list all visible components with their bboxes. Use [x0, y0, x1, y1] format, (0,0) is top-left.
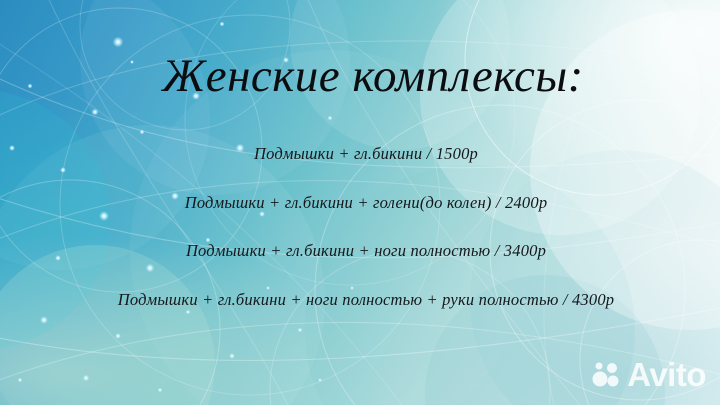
avito-wordmark: Avito: [627, 358, 706, 391]
avito-watermark: Avito: [592, 358, 706, 391]
list-item: Подмышки + гл.бикини + голени(до колен) …: [12, 195, 720, 212]
price-list-slide: Женские комплексы: Подмышки + гл.бикини …: [0, 0, 720, 405]
page-title: Женские комплексы:: [0, 52, 720, 101]
avito-dots-icon: [592, 362, 622, 388]
list-item: Подмышки + гл.бикини + ноги полностью / …: [12, 243, 720, 260]
price-list: Подмышки + гл.бикини / 1500р Подмышки + …: [0, 146, 720, 308]
slide-content: Женские комплексы: Подмышки + гл.бикини …: [0, 0, 720, 405]
list-item: Подмышки + гл.бикини + ноги полностью + …: [12, 292, 720, 309]
list-item: Подмышки + гл.бикини / 1500р: [12, 146, 720, 163]
